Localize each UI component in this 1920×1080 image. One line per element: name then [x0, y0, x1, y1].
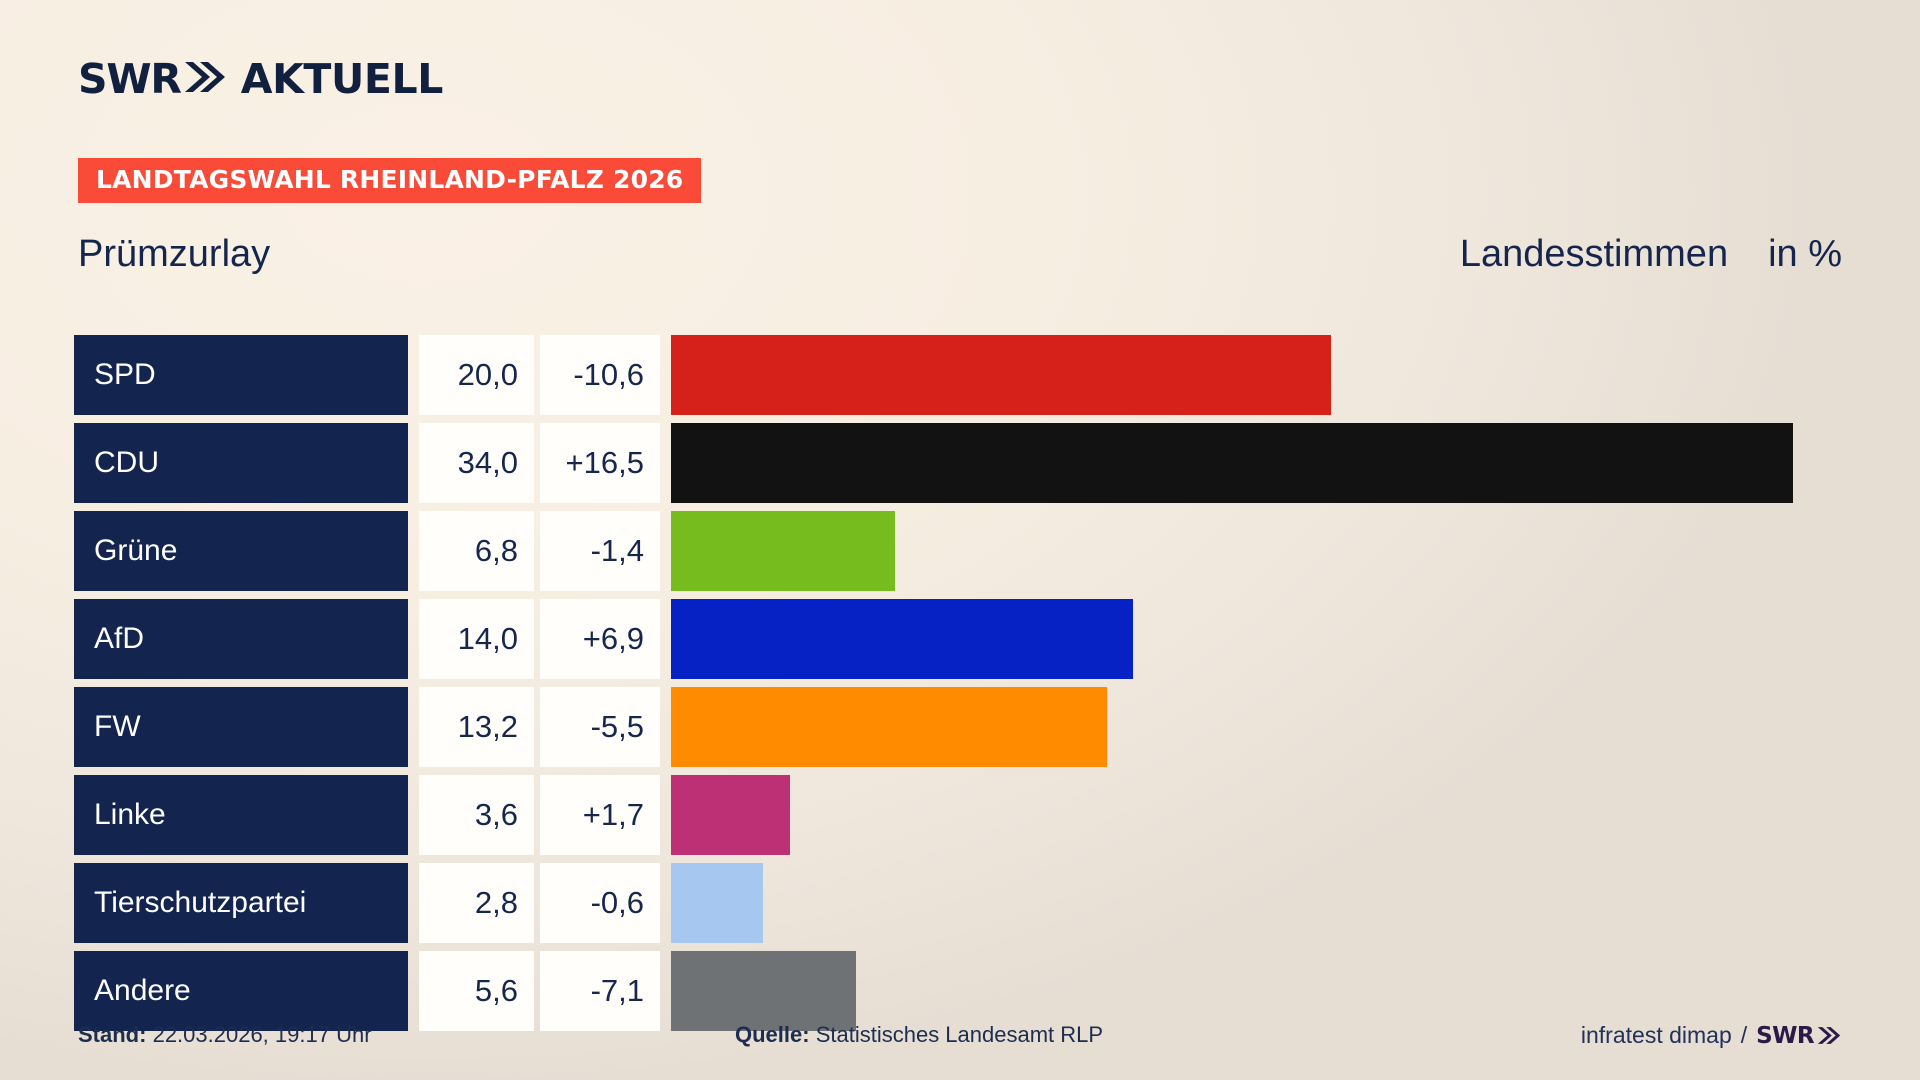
- change-value-cell: -10,6: [540, 335, 660, 415]
- party-label-cell: AfD: [74, 599, 408, 679]
- result-value-cell: 13,2: [419, 687, 534, 767]
- chart-row: Grüne6,8-1,4: [74, 511, 1920, 591]
- source-value: Statistisches Landesamt RLP: [816, 1022, 1103, 1047]
- subheader: Prümzurlay Landesstimmen in %: [78, 228, 1842, 284]
- party-name: CDU: [94, 446, 159, 480]
- brand-header: SWR AKTUELL: [78, 55, 443, 103]
- bar-track: [671, 423, 1920, 503]
- source-info: Quelle: Statistisches Landesamt RLP: [735, 1022, 1103, 1048]
- party-label-cell: Grüne: [74, 511, 408, 591]
- change-value: +16,5: [566, 445, 644, 481]
- chart-row: SPD20,0-10,6: [74, 335, 1920, 415]
- change-value: -1,4: [591, 533, 644, 569]
- aktuell-wordmark: AKTUELL: [241, 59, 443, 100]
- result-value: 34,0: [458, 445, 518, 481]
- stand-info: Stand: 22.03.2026, 19:17 Uhr: [78, 1022, 372, 1048]
- result-bar: [671, 863, 763, 943]
- change-value: -0,6: [591, 885, 644, 921]
- party-name: FW: [94, 710, 141, 744]
- place-title: Prümzurlay: [78, 228, 270, 280]
- chart-row: AfD14,0+6,9: [74, 599, 1920, 679]
- results-bar-chart: SPD20,0-10,6CDU34,0+16,5Grüne6,8-1,4AfD1…: [74, 335, 1920, 1039]
- change-value-cell: -5,5: [540, 687, 660, 767]
- bar-track: [671, 775, 1920, 855]
- double-chevron-right-icon: [1816, 1026, 1842, 1045]
- credit-institute: infratest dimap: [1581, 1022, 1732, 1049]
- chart-row: Andere5,6-7,1: [74, 951, 1920, 1031]
- result-value-cell: 5,6: [419, 951, 534, 1031]
- chart-row: CDU34,0+16,5: [74, 423, 1920, 503]
- subheader-right: Landesstimmen in %: [1460, 228, 1842, 280]
- result-value: 6,8: [475, 533, 518, 569]
- party-label-cell: SPD: [74, 335, 408, 415]
- swr-wordmark: SWR: [78, 59, 181, 100]
- party-name: Tierschutzpartei: [94, 886, 306, 920]
- change-value-cell: -0,6: [540, 863, 660, 943]
- chart-row: Linke3,6+1,7: [74, 775, 1920, 855]
- change-value: -10,6: [573, 357, 644, 393]
- stand-value: 22.03.2026, 19:17 Uhr: [153, 1022, 372, 1047]
- footer: Stand: 22.03.2026, 19:17 Uhr Quelle: Sta…: [78, 1022, 1842, 1056]
- change-value-cell: -1,4: [540, 511, 660, 591]
- result-value-cell: 2,8: [419, 863, 534, 943]
- bar-track: [671, 951, 1920, 1031]
- chart-row: Tierschutzpartei2,8-0,6: [74, 863, 1920, 943]
- result-value: 14,0: [458, 621, 518, 657]
- party-name: Linke: [94, 798, 166, 832]
- party-label-cell: Andere: [74, 951, 408, 1031]
- source-label: Quelle:: [735, 1022, 810, 1047]
- bar-track: [671, 599, 1920, 679]
- party-name: Grüne: [94, 534, 177, 568]
- party-label-cell: Tierschutzpartei: [74, 863, 408, 943]
- change-value-cell: +16,5: [540, 423, 660, 503]
- result-value-cell: 3,6: [419, 775, 534, 855]
- party-label-cell: FW: [74, 687, 408, 767]
- credit-broadcaster: SWR: [1756, 1023, 1814, 1049]
- election-banner-label: LANDTAGSWAHL RHEINLAND-PFALZ 2026: [96, 165, 683, 194]
- unit-label: in %: [1768, 228, 1842, 280]
- party-label-cell: Linke: [74, 775, 408, 855]
- swr-aktuell-logo: SWR AKTUELL: [78, 55, 443, 103]
- change-value-cell: +6,9: [540, 599, 660, 679]
- result-value-cell: 14,0: [419, 599, 534, 679]
- bar-track: [671, 687, 1920, 767]
- election-banner: LANDTAGSWAHL RHEINLAND-PFALZ 2026: [78, 158, 701, 203]
- change-value: +6,9: [583, 621, 644, 657]
- change-value-cell: -7,1: [540, 951, 660, 1031]
- result-bar: [671, 511, 895, 591]
- result-bar: [671, 951, 856, 1031]
- result-bar: [671, 599, 1133, 679]
- result-value: 20,0: [458, 357, 518, 393]
- result-value-cell: 6,8: [419, 511, 534, 591]
- party-name: AfD: [94, 622, 144, 656]
- change-value: -7,1: [591, 973, 644, 1009]
- credit-separator: /: [1741, 1022, 1747, 1049]
- result-value: 3,6: [475, 797, 518, 833]
- change-value-cell: +1,7: [540, 775, 660, 855]
- party-label-cell: CDU: [74, 423, 408, 503]
- party-name: Andere: [94, 974, 191, 1008]
- vote-type-label: Landesstimmen: [1460, 228, 1728, 280]
- result-bar: [671, 687, 1107, 767]
- result-bar: [671, 775, 790, 855]
- bar-track: [671, 863, 1920, 943]
- bar-track: [671, 511, 1920, 591]
- double-chevron-right-icon: [183, 60, 227, 98]
- result-value: 2,8: [475, 885, 518, 921]
- result-bar: [671, 335, 1331, 415]
- credit-info: infratest dimap / SWR: [1581, 1022, 1842, 1049]
- result-value: 5,6: [475, 973, 518, 1009]
- result-bar: [671, 423, 1793, 503]
- chart-row: FW13,2-5,5: [74, 687, 1920, 767]
- change-value: +1,7: [583, 797, 644, 833]
- result-value-cell: 34,0: [419, 423, 534, 503]
- result-value: 13,2: [458, 709, 518, 745]
- party-name: SPD: [94, 358, 156, 392]
- result-value-cell: 20,0: [419, 335, 534, 415]
- bar-track: [671, 335, 1920, 415]
- stand-label: Stand:: [78, 1022, 146, 1047]
- change-value: -5,5: [591, 709, 644, 745]
